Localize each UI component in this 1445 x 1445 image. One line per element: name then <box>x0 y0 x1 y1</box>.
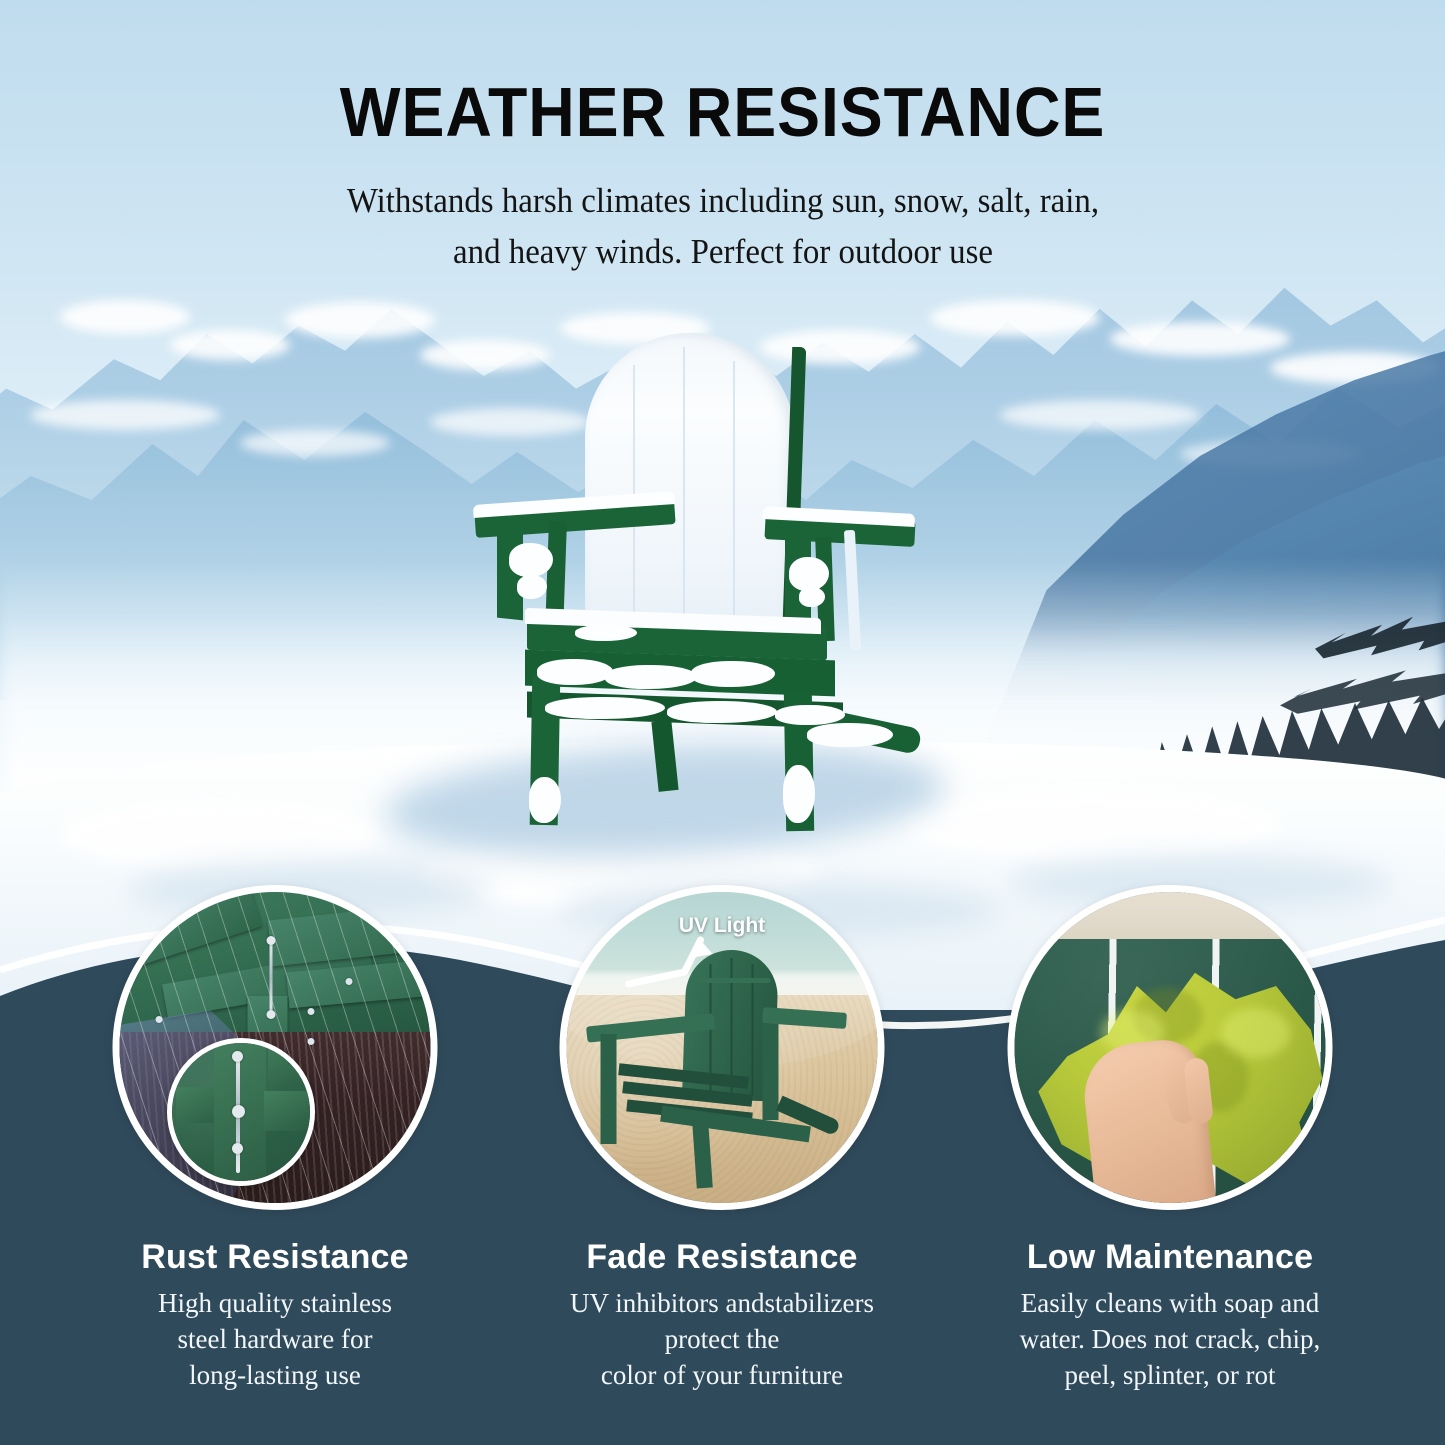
snow-cap <box>240 430 390 456</box>
cloth-highlight <box>1221 1008 1291 1058</box>
snow-cap <box>170 330 290 360</box>
chair-back-seam <box>733 361 735 647</box>
hero-chair <box>455 325 925 845</box>
infographic-page: WEATHER RESISTANCE Withstands harsh clim… <box>0 0 1445 1445</box>
page-title: WEATHER RESISTANCE <box>58 72 1387 152</box>
feature-body-line-2: steel hardware for <box>75 1321 475 1357</box>
feature-body-line-2: protect the <box>522 1321 922 1357</box>
chair-slat-right-snow <box>844 530 861 650</box>
chain-bead-icon <box>232 1051 243 1062</box>
chair-post <box>264 1091 310 1131</box>
snow-cap <box>1110 322 1290 356</box>
snow-cap <box>60 300 190 334</box>
chair-post <box>268 1038 315 1087</box>
feature-title-rust-resistance: Rust Resistance <box>55 1238 495 1277</box>
feature-body-rust-resistance: High quality stainless steel hardware fo… <box>75 1285 475 1394</box>
feature-body-line-3: color of your furniture <box>522 1357 922 1393</box>
deck-background-strip <box>1015 892 1326 939</box>
subtitle-line-2: and heavy winds. Perfect for outdoor use <box>253 227 1193 278</box>
subtitle-line-1: Withstands harsh climates including sun,… <box>253 176 1193 227</box>
feature-body-line-3: long-lasting use <box>75 1357 475 1393</box>
feature-body-line-2: water. Does not crack, chip, <box>970 1321 1370 1357</box>
feature-body-line-1: UV inhibitors andstabilizers <box>522 1285 922 1321</box>
feature-image-inset-chain-closeup[interactable] <box>167 1038 315 1186</box>
snow-cap <box>285 302 435 338</box>
feature-title-low-maintenance: Low Maintenance <box>950 1238 1390 1277</box>
feature-list: Rust Resistance High quality stainless s… <box>0 880 1445 1440</box>
feature-image-low-maintenance[interactable] <box>1008 885 1333 1210</box>
chain-bead-icon <box>232 1105 245 1118</box>
snow-bump <box>900 790 1280 860</box>
beach-chair-leg-front-right <box>763 1024 779 1120</box>
chair-back-seam <box>683 347 685 647</box>
uv-light-arrow-icon <box>623 932 763 1002</box>
feature-image-fade-resistance[interactable]: UV Light <box>560 885 885 1210</box>
feature-body-line-3: peel, splinter, or rot <box>970 1357 1370 1393</box>
beach-chair-leg-front-left <box>601 1034 617 1144</box>
feature-body-low-maintenance: Easily cleans with soap and water. Does … <box>970 1285 1370 1394</box>
feature-body-line-1: High quality stainless <box>75 1285 475 1321</box>
feature-body-line-1: Easily cleans with soap and <box>970 1285 1370 1321</box>
feature-title-fade-resistance: Fade Resistance <box>502 1238 942 1277</box>
page-subtitle: Withstands harsh climates including sun,… <box>223 176 1223 278</box>
chair-back-snow-covered <box>585 333 795 653</box>
snow-cap <box>30 400 220 430</box>
chain-bead-icon <box>232 1143 243 1154</box>
snow-accumulation <box>517 575 547 599</box>
snow-cap <box>930 300 1100 336</box>
snow-cap <box>1000 400 1200 430</box>
feature-body-fade-resistance: UV inhibitors andstabilizers protect the… <box>522 1285 922 1394</box>
